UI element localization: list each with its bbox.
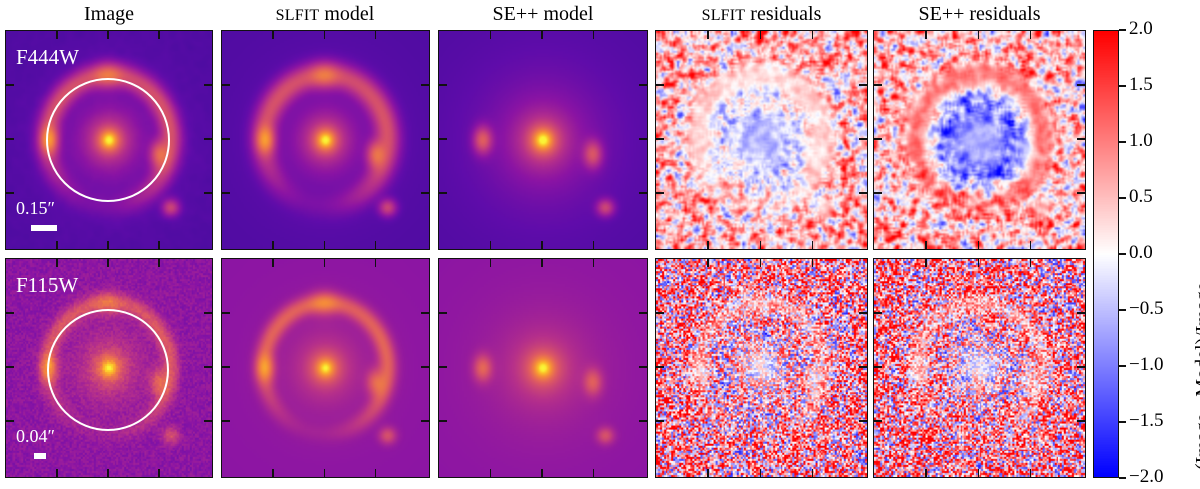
axis-tick [439,138,447,140]
axis-tick [222,192,230,194]
axis-tick [421,366,429,368]
colorbar-tick [1119,85,1126,87]
axis-tick [925,31,927,39]
colorbar-tick-label: −1.0 [1129,354,1163,376]
axis-tick [760,241,762,249]
colorbar-tick-label: 1.5 [1129,74,1153,96]
axis-tick [324,241,326,249]
column-title-sepp-residuals-label: SE++ residuals [919,3,1041,25]
axis-tick [541,469,543,477]
axis-tick [859,312,867,314]
filter-label-f444w: F444W [16,45,79,70]
axis-tick [56,469,58,477]
colorbar-tick [1119,309,1126,311]
axis-tick [541,241,543,249]
axis-tick [421,138,429,140]
colorbar-tick-label: −1.5 [1129,410,1163,432]
panel-canvas [222,31,429,249]
axis-tick [158,469,160,477]
axis-tick [490,259,492,267]
axis-tick [1077,366,1085,368]
axis-tick [707,469,709,477]
colorbar-tick [1119,365,1126,367]
scalebar-label-f444w: 0.15″ [16,198,55,219]
axis-tick [639,192,647,194]
colorbar-tick-label: 2.0 [1129,18,1153,40]
axis-tick [272,259,274,267]
axis-tick [812,469,814,477]
colorbar-title: (Image - Model)/Image [1192,282,1200,470]
panel-f444w-slfit-model [221,30,430,250]
einstein-radius-circle [47,309,169,431]
colorbar-tick [1119,197,1126,199]
axis-tick [656,312,664,314]
panel-f115w-sepp-model [438,258,648,478]
axis-tick [593,259,595,267]
colorbar-tick [1119,421,1126,423]
axis-tick [272,31,274,39]
panel-canvas [656,259,867,477]
axis-tick [656,192,664,194]
panel-canvas [439,31,647,249]
column-title-sepp-model: SE++ model [438,4,648,24]
axis-tick [222,138,230,140]
axis-tick [158,31,160,39]
axis-tick [859,192,867,194]
scalebar-f115w [34,453,46,459]
axis-tick [859,84,867,86]
axis-tick [439,366,447,368]
panel-f444w-sepp-model [438,30,648,250]
axis-tick [639,84,647,86]
axis-tick [1077,192,1085,194]
colorbar-tick-label: −2.0 [1129,466,1163,488]
axis-tick [375,259,377,267]
axis-tick [107,31,109,39]
axis-tick [1030,31,1032,39]
axis-tick [859,138,867,140]
panel-f115w-image: F115W0.04″ [5,258,213,478]
axis-tick [1077,420,1085,422]
axis-tick [978,259,980,267]
axis-tick [222,420,230,422]
axis-tick [978,469,980,477]
axis-tick [272,241,274,249]
axis-tick [593,31,595,39]
axis-tick [204,84,212,86]
axis-tick [158,241,160,249]
panel-canvas [874,31,1085,249]
axis-tick [874,312,882,314]
axis-tick [490,31,492,39]
axis-tick [1077,84,1085,86]
axis-tick [812,31,814,39]
axis-tick [1030,469,1032,477]
axis-tick [421,192,429,194]
column-title-slfit-residuals: SLFIT residuals [655,4,868,24]
axis-tick [593,469,595,477]
axis-tick [760,259,762,267]
axis-tick [760,31,762,39]
axis-tick [6,420,14,422]
panel-f115w-slfit-model [221,258,430,478]
axis-tick [656,138,664,140]
axis-tick [859,420,867,422]
axis-tick [222,84,230,86]
panel-canvas [222,259,429,477]
panel-f115w-slfit-residuals [655,258,868,478]
axis-tick [1077,312,1085,314]
axis-tick [375,31,377,39]
axis-tick [760,469,762,477]
axis-tick [375,469,377,477]
filter-label-f115w: F115W [16,273,78,298]
axis-tick [107,241,109,249]
column-title-image: Image [5,4,213,24]
axis-tick [1030,241,1032,249]
colorbar-tick [1119,29,1126,31]
axis-tick [56,241,58,249]
axis-tick [6,138,14,140]
axis-tick [6,192,14,194]
axis-tick [639,366,647,368]
axis-tick [978,31,980,39]
column-title-slfit-residuals-text: residuals [750,3,821,25]
axis-tick [707,31,709,39]
axis-tick [925,259,927,267]
axis-tick [272,469,274,477]
colorbar [1093,30,1119,478]
colorbar-tick-label: 0.5 [1129,186,1153,208]
axis-tick [439,420,447,422]
column-title-slfit-model-prefix: SLFIT [276,7,320,24]
colorbar-tick-label: 1.0 [1129,130,1153,152]
axis-tick [56,259,58,267]
axis-tick [490,241,492,249]
axis-tick [204,312,212,314]
axis-tick [639,420,647,422]
axis-tick [978,241,980,249]
axis-tick [874,420,882,422]
panel-f115w-sepp-residuals [873,258,1086,478]
axis-tick [874,366,882,368]
scalebar-label-f115w: 0.04″ [16,426,55,447]
axis-tick [6,84,14,86]
column-title-slfit-residuals-prefix: SLFIT [702,7,746,24]
column-title-sepp-residuals: SE++ residuals [873,4,1086,24]
axis-tick [204,420,212,422]
column-title-sepp-model-label: SE++ model [493,3,594,25]
column-title-image-label: Image [84,3,134,25]
axis-tick [421,420,429,422]
axis-tick [874,192,882,194]
axis-tick [421,312,429,314]
axis-tick [656,84,664,86]
axis-tick [222,366,230,368]
axis-tick [541,31,543,39]
axis-tick [56,31,58,39]
axis-tick [439,192,447,194]
axis-tick [656,420,664,422]
panel-f444w-sepp-residuals [873,30,1086,250]
column-title-slfit-model-text: model [324,3,374,25]
axis-tick [593,241,595,249]
axis-tick [6,312,14,314]
panel-canvas [656,31,867,249]
axis-tick [421,84,429,86]
axis-tick [324,31,326,39]
panel-f444w-image: F444W0.15″ [5,30,213,250]
axis-tick [375,241,377,249]
axis-tick [541,259,543,267]
axis-tick [812,241,814,249]
axis-tick [439,312,447,314]
panel-canvas [874,259,1085,477]
colorbar-tick-label: 0.0 [1129,242,1153,264]
axis-tick [859,366,867,368]
colorbar-tick [1119,141,1126,143]
axis-tick [204,192,212,194]
axis-tick [925,241,927,249]
axis-tick [439,84,447,86]
axis-tick [1077,138,1085,140]
axis-tick [490,469,492,477]
colorbar-tick-label: −0.5 [1129,298,1163,320]
axis-tick [107,469,109,477]
axis-tick [204,138,212,140]
einstein-radius-circle [46,78,170,202]
axis-tick [204,366,212,368]
axis-tick [158,259,160,267]
column-title-slfit-model: SLFIT model [221,4,429,24]
axis-tick [707,241,709,249]
axis-tick [324,259,326,267]
axis-tick [6,366,14,368]
axis-tick [874,138,882,140]
panel-f444w-slfit-residuals [655,30,868,250]
axis-tick [874,84,882,86]
panel-canvas [439,259,647,477]
colorbar-tick [1119,477,1126,479]
axis-tick [925,469,927,477]
axis-tick [324,469,326,477]
colorbar-tick [1119,253,1126,255]
axis-tick [107,259,109,267]
axis-tick [1030,259,1032,267]
axis-tick [812,259,814,267]
figure-root: Image SLFIT model SE++ model SLFIT resid… [0,0,1200,489]
axis-tick [639,138,647,140]
axis-tick [656,366,664,368]
axis-tick [707,259,709,267]
scalebar-f444w [31,225,57,231]
axis-tick [639,312,647,314]
axis-tick [222,312,230,314]
